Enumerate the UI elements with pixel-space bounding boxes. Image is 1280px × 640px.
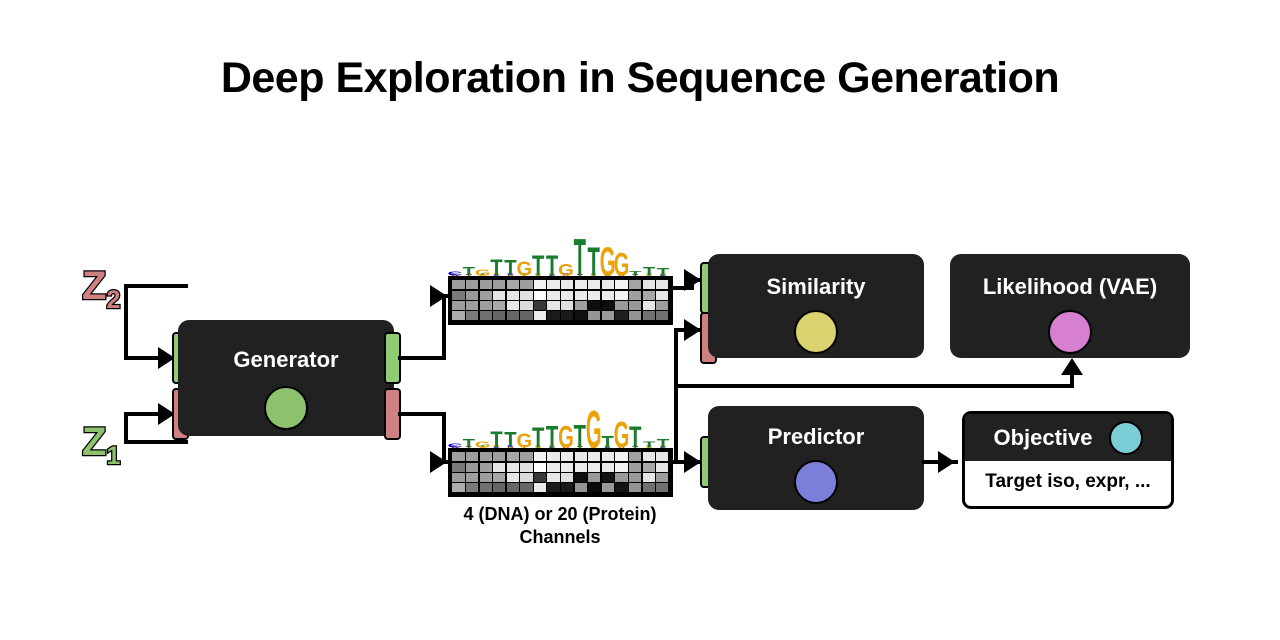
objective-body-text: Target iso, expr, ... <box>965 458 1171 506</box>
sequence-logo-top: ACCTATGTGCGTACTTAGGTTCGTACGTATGTTCGGACGT… <box>448 230 670 276</box>
module-likelihood-vae[interactable]: Likelihood (VAE) <box>952 256 1188 356</box>
heatmap-cell <box>452 483 464 492</box>
heatmap-cell <box>534 291 546 300</box>
sequence-logo-letter: G <box>558 419 574 448</box>
heatmap-cell <box>534 311 546 320</box>
wire-z1-v <box>124 412 128 444</box>
module-predictor[interactable]: Predictor <box>710 408 922 508</box>
heatmap-cell <box>534 301 546 310</box>
heatmap-cell <box>480 483 492 492</box>
heatmap-cell <box>547 311 559 320</box>
similarity-label: Similarity <box>710 274 922 300</box>
sequence-logo-letter: T <box>588 239 601 276</box>
sequence-logo-letter: T <box>629 419 641 448</box>
heatmap-cell <box>575 280 587 289</box>
heatmap-cell <box>466 311 478 320</box>
heatmap-cell <box>547 473 559 482</box>
heatmap-cell <box>588 280 600 289</box>
heatmap-cell <box>602 280 614 289</box>
sequence-logo-letter: G <box>516 259 532 276</box>
heatmap-cell <box>534 280 546 289</box>
heatmap-cell <box>507 463 519 472</box>
wire-z1-h1 <box>124 440 188 444</box>
generator-label: Generator <box>180 347 392 373</box>
predictor-status-dot <box>794 460 838 504</box>
heatmap-cell <box>656 311 668 320</box>
arrow-gen-to-bottom-panel <box>430 451 447 473</box>
heatmap-cell <box>656 463 668 472</box>
heatmap-cell <box>452 473 464 482</box>
wire-to-likelihood-h <box>674 384 1074 388</box>
heatmap-cell <box>493 483 505 492</box>
heatmap-cell <box>588 301 600 310</box>
heatmap-cell <box>656 452 668 461</box>
heatmap-cell <box>575 483 587 492</box>
heatmap-cell <box>493 291 505 300</box>
objective-label: Objective <box>993 425 1092 451</box>
heatmap-cell <box>520 291 532 300</box>
sequence-logo-letter: T <box>532 250 545 276</box>
heatmap-cell <box>561 301 573 310</box>
heatmap-cell <box>452 301 464 310</box>
heatmap-cell <box>575 463 587 472</box>
likelihood-status-dot <box>1048 310 1092 354</box>
page-title: Deep Exploration in Sequence Generation <box>0 54 1280 103</box>
module-generator[interactable]: Generator <box>180 322 392 434</box>
heatmap-cell <box>561 463 573 472</box>
heatmap-cell <box>480 311 492 320</box>
heatmap-cell <box>561 483 573 492</box>
wire-gen-top-h1 <box>398 356 446 360</box>
heatmap-cell <box>615 452 627 461</box>
heatmap-cell <box>547 280 559 289</box>
sequence-logo-letter: G <box>614 415 630 448</box>
heatmap-cell <box>520 311 532 320</box>
heatmap-cell <box>602 463 614 472</box>
heatmap-cell <box>602 291 614 300</box>
sequence-logo-letter: G <box>586 402 602 448</box>
heatmap-cell <box>547 301 559 310</box>
channels-caption-line1: 4 (DNA) or 20 (Protein) <box>400 503 720 526</box>
heatmap-cell <box>643 452 655 461</box>
channels-caption-line2: Channels <box>400 526 720 549</box>
arrow-into-objective <box>938 451 955 473</box>
heatmap-cell <box>452 291 464 300</box>
heatmap-cell <box>615 301 627 310</box>
heatmap-cell <box>643 280 655 289</box>
heatmap-cell <box>547 452 559 461</box>
heatmap-cell <box>629 280 641 289</box>
arrow-to-similarity-green <box>684 269 701 291</box>
sequence-logo-letter: G <box>558 260 574 276</box>
heatmap-cell <box>588 473 600 482</box>
heatmap-cell <box>656 301 668 310</box>
heatmap-cell <box>602 483 614 492</box>
heatmap-cell <box>480 301 492 310</box>
heatmap-cell <box>602 473 614 482</box>
heatmap-cell <box>507 291 519 300</box>
heatmap-cell <box>602 452 614 461</box>
heatmap-cell <box>629 301 641 310</box>
heatmap-cell <box>561 473 573 482</box>
heatmap-cell <box>575 473 587 482</box>
heatmap-cell <box>493 452 505 461</box>
sequence-logo-letter: T <box>601 432 614 448</box>
heatmap-cell <box>615 280 627 289</box>
sequence-logo-letter: T <box>546 250 559 276</box>
wire-z2-v <box>124 284 128 358</box>
sequence-logo-letter: G <box>516 431 532 448</box>
heatmap-cell <box>575 291 587 300</box>
heatmap-cell <box>507 452 519 461</box>
sequence-heatmap-top <box>448 276 673 325</box>
heatmap-cell <box>480 280 492 289</box>
heatmap-cell <box>507 280 519 289</box>
heatmap-cell <box>656 280 668 289</box>
heatmap-cell <box>480 291 492 300</box>
predictor-label: Predictor <box>710 424 922 450</box>
sequence-logo-letter: T <box>504 256 516 276</box>
arrow-into-likelihood <box>1061 358 1083 375</box>
heatmap-cell <box>656 483 668 492</box>
heatmap-cell <box>466 473 478 482</box>
objective-status-dot <box>1109 421 1143 455</box>
sequence-logo-letter: T <box>574 230 587 276</box>
heatmap-cell <box>493 473 505 482</box>
heatmap-cell <box>656 473 668 482</box>
heatmap-cell <box>520 452 532 461</box>
heatmap-cell <box>561 280 573 289</box>
heatmap-cell <box>643 463 655 472</box>
channels-caption: 4 (DNA) or 20 (Protein) Channels <box>400 503 720 548</box>
heatmap-cell <box>507 473 519 482</box>
latent-label-z1: Z1 <box>82 422 120 469</box>
heatmap-cell <box>643 291 655 300</box>
heatmap-cell <box>520 463 532 472</box>
heatmap-cell <box>534 463 546 472</box>
sequence-logo-letter: T <box>643 264 656 276</box>
heatmap-cell <box>643 311 655 320</box>
module-objective[interactable]: Objective Target iso, expr, ... <box>962 411 1174 509</box>
heatmap-cell <box>629 291 641 300</box>
heatmap-cell <box>520 301 532 310</box>
sequence-heatmap-bottom <box>448 448 673 497</box>
sequence-logo-letter: T <box>643 441 656 448</box>
latent-z2-subscript: 2 <box>106 286 120 314</box>
heatmap-cell <box>656 291 668 300</box>
heatmap-cell <box>602 311 614 320</box>
arrow-to-similarity-red <box>684 319 701 341</box>
heatmap-cell <box>547 483 559 492</box>
heatmap-cell <box>588 483 600 492</box>
heatmap-cell <box>615 463 627 472</box>
heatmap-cell <box>561 291 573 300</box>
heatmap-cell <box>547 291 559 300</box>
heatmap-cell <box>480 463 492 472</box>
latent-z2-base: Z <box>82 264 106 308</box>
heatmap-cell <box>615 483 627 492</box>
sequence-logo-letter: T <box>546 419 558 448</box>
heatmap-cell <box>466 291 478 300</box>
heatmap-cell <box>520 483 532 492</box>
sequence-panel-top: ACCTATGTGCGTACTTAGGTTCGTACGTATGTTCGGACGT… <box>448 228 670 322</box>
heatmap-cell <box>493 280 505 289</box>
sequence-logo-letter: T <box>574 419 587 448</box>
heatmap-cell <box>588 311 600 320</box>
sequence-logo-letter: T <box>657 266 669 276</box>
heatmap-cell <box>629 311 641 320</box>
heatmap-cell <box>615 311 627 320</box>
sequence-logo-letter: G <box>475 269 491 276</box>
arrow-gen-to-top-panel <box>430 285 447 307</box>
heatmap-cell <box>547 463 559 472</box>
heatmap-cell <box>575 311 587 320</box>
heatmap-cell <box>588 463 600 472</box>
sequence-logo-letter: G <box>614 247 630 276</box>
heatmap-cell <box>602 301 614 310</box>
sequence-logo-letter: T <box>657 436 670 448</box>
heatmap-cell <box>534 452 546 461</box>
sequence-panel-bottom: ACCTATGTGCGTACTTAGGTTCGTACGTATGTGCGTACGT… <box>448 400 670 494</box>
heatmap-cell <box>507 301 519 310</box>
heatmap-cell <box>575 301 587 310</box>
wire-z2-h1 <box>124 284 188 288</box>
heatmap-cell <box>629 483 641 492</box>
heatmap-cell <box>466 483 478 492</box>
heatmap-cell <box>588 452 600 461</box>
latent-z1-subscript: 1 <box>106 442 120 470</box>
sequence-logo-letter: T <box>504 428 516 448</box>
arrow-into-predictor <box>684 451 701 473</box>
heatmap-cell <box>629 473 641 482</box>
heatmap-cell <box>629 463 641 472</box>
heatmap-cell <box>520 473 532 482</box>
heatmap-cell <box>561 452 573 461</box>
heatmap-cell <box>643 483 655 492</box>
heatmap-cell <box>507 483 519 492</box>
heatmap-cell <box>520 280 532 289</box>
sequence-logo-bottom: ACCTATGTGCGTACTTAGGTTCGTACGTATGTGCGTACGT… <box>448 402 670 448</box>
heatmap-cell <box>452 280 464 289</box>
sequence-logo-letter: G <box>475 441 491 448</box>
heatmap-cell <box>561 311 573 320</box>
module-similarity[interactable]: Similarity <box>710 256 922 356</box>
heatmap-cell <box>493 463 505 472</box>
heatmap-cell <box>493 301 505 310</box>
latent-z1-base: Z <box>82 420 106 464</box>
likelihood-label: Likelihood (VAE) <box>952 274 1188 300</box>
objective-header: Objective <box>965 414 1171 461</box>
sequence-logo-letter: T <box>490 426 503 448</box>
heatmap-cell <box>452 463 464 472</box>
wire-bot-trunk-v <box>674 328 678 464</box>
heatmap-cell <box>629 452 641 461</box>
heatmap-cell <box>643 473 655 482</box>
wire-gen-bot-h1 <box>398 412 446 416</box>
heatmap-cell <box>466 280 478 289</box>
heatmap-cell <box>493 311 505 320</box>
heatmap-cell <box>615 291 627 300</box>
heatmap-cell <box>534 473 546 482</box>
sequence-logo-letter: T <box>490 254 503 276</box>
latent-label-z2: Z2 <box>82 266 120 313</box>
similarity-status-dot <box>794 310 838 354</box>
heatmap-cell <box>466 301 478 310</box>
heatmap-cell <box>452 311 464 320</box>
heatmap-cell <box>575 452 587 461</box>
heatmap-cell <box>452 452 464 461</box>
heatmap-cell <box>480 473 492 482</box>
heatmap-cell <box>480 452 492 461</box>
sequence-logo-letter: T <box>532 422 545 448</box>
heatmap-cell <box>534 483 546 492</box>
heatmap-cell <box>588 291 600 300</box>
heatmap-cell <box>466 452 478 461</box>
heatmap-cell <box>507 311 519 320</box>
heatmap-cell <box>643 301 655 310</box>
generator-status-dot <box>264 386 308 430</box>
heatmap-cell <box>615 473 627 482</box>
heatmap-cell <box>466 463 478 472</box>
